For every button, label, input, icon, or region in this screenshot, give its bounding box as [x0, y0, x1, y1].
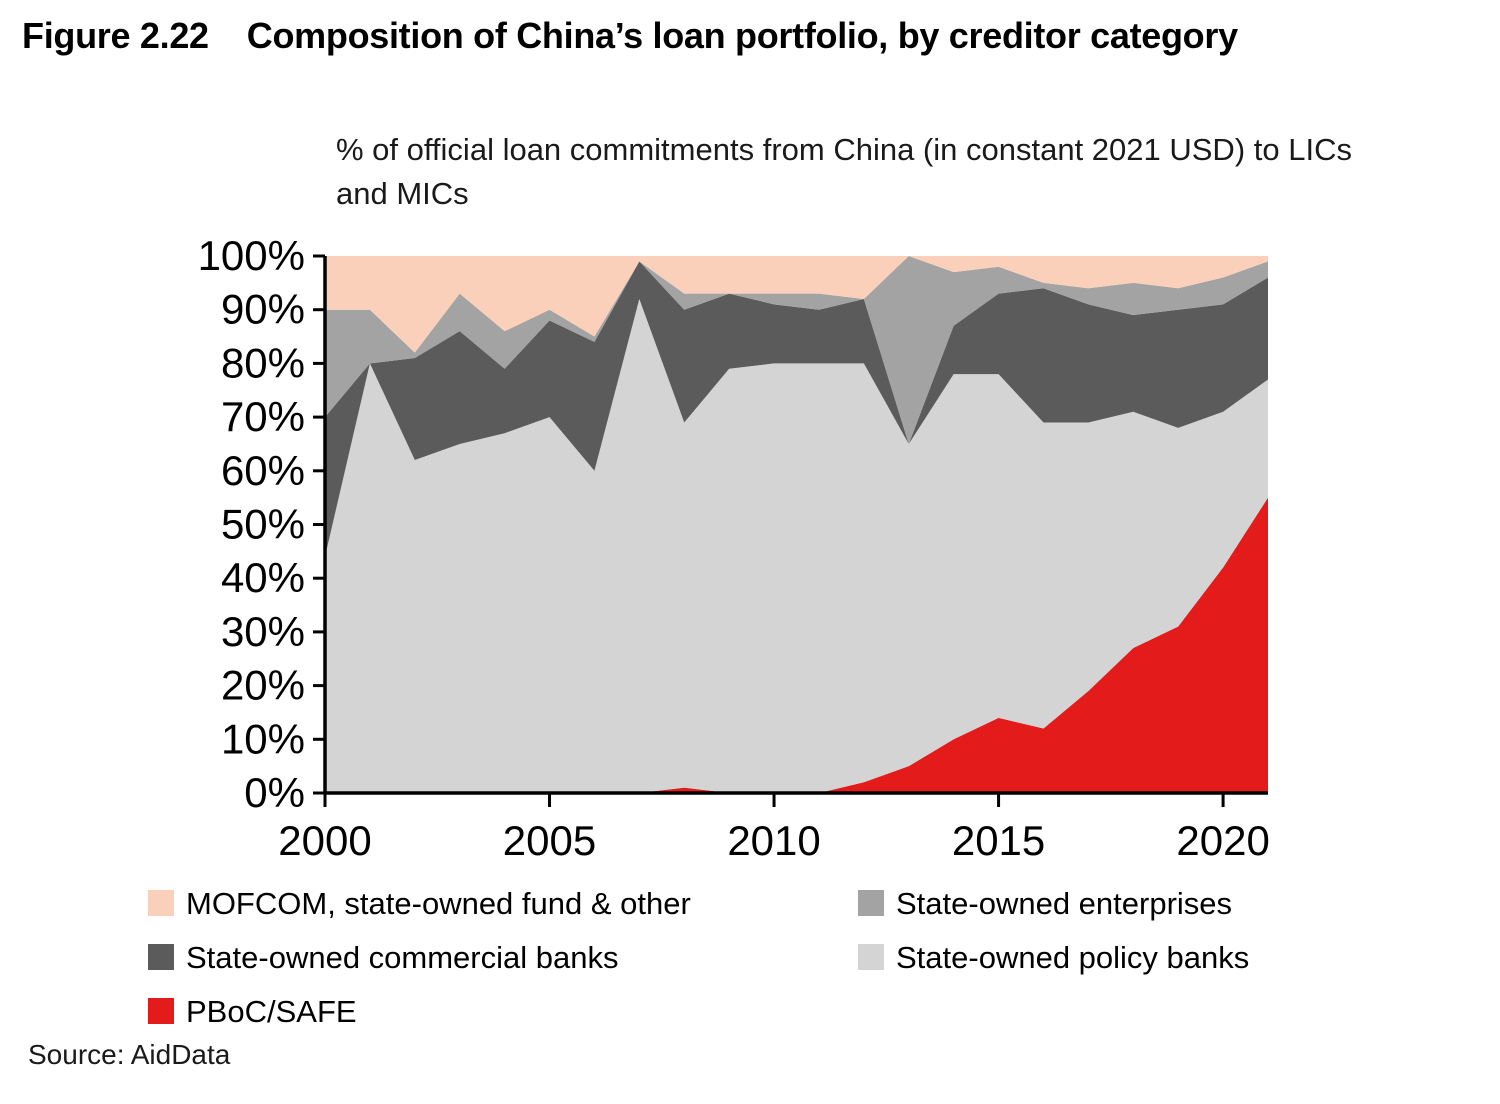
y-tick-label: 100%	[198, 232, 305, 279]
y-tick-label: 90%	[221, 286, 305, 333]
legend-item-state-owned-enterprises[interactable]: State-owned enterprises	[858, 888, 1232, 919]
chart-container: 0%10%20%30%40%50%60%70%80%90%100%2000200…	[0, 230, 1500, 860]
legend-swatch-icon	[148, 944, 174, 970]
y-tick-label: 40%	[221, 554, 305, 601]
legend-label: MOFCOM, state-owned fund & other	[186, 888, 691, 919]
legend-item-state-owned-commercial-banks[interactable]: State-owned commercial banks	[148, 942, 858, 973]
x-tick-label: 2015	[952, 817, 1045, 860]
chart-subtitle: % of official loan commitments from Chin…	[336, 128, 1376, 216]
x-tick-label: 2005	[503, 817, 596, 860]
x-tick-label: 2000	[278, 817, 371, 860]
legend-swatch-icon	[858, 944, 884, 970]
figure-title: Composition of China’s loan portfolio, b…	[247, 14, 1238, 58]
legend-label: PBoC/SAFE	[186, 996, 357, 1027]
y-tick-label: 10%	[221, 715, 305, 762]
legend-row: PBoC/SAFE	[148, 984, 1468, 1038]
figure-number: Figure 2.22	[22, 14, 209, 58]
chart-legend: MOFCOM, state-owned fund & other State-o…	[148, 876, 1468, 1038]
legend-swatch-icon	[858, 890, 884, 916]
x-tick-label: 2020	[1176, 817, 1269, 860]
stacked-area-chart: 0%10%20%30%40%50%60%70%80%90%100%2000200…	[0, 230, 1500, 860]
legend-label: State-owned enterprises	[896, 888, 1232, 919]
legend-item-state-owned-policy-banks[interactable]: State-owned policy banks	[858, 942, 1249, 973]
legend-label: State-owned policy banks	[896, 942, 1249, 973]
y-tick-label: 80%	[221, 339, 305, 386]
legend-swatch-icon	[148, 890, 174, 916]
y-tick-label: 50%	[221, 501, 305, 548]
legend-item-mofcom[interactable]: MOFCOM, state-owned fund & other	[148, 888, 858, 919]
legend-row: MOFCOM, state-owned fund & other State-o…	[148, 876, 1468, 930]
y-tick-label: 20%	[221, 662, 305, 709]
source-note: Source: AidData	[28, 1039, 230, 1071]
y-tick-label: 60%	[221, 447, 305, 494]
legend-item-pboc-safe[interactable]: PBoC/SAFE	[148, 996, 858, 1027]
y-tick-label: 0%	[244, 769, 305, 816]
figure-header: Figure 2.22 Composition of China’s loan …	[0, 0, 1500, 58]
legend-row: State-owned commercial banks State-owned…	[148, 930, 1468, 984]
y-tick-label: 70%	[221, 393, 305, 440]
y-tick-label: 30%	[221, 608, 305, 655]
legend-swatch-icon	[148, 998, 174, 1024]
legend-label: State-owned commercial banks	[186, 942, 618, 973]
x-tick-label: 2010	[727, 817, 820, 860]
